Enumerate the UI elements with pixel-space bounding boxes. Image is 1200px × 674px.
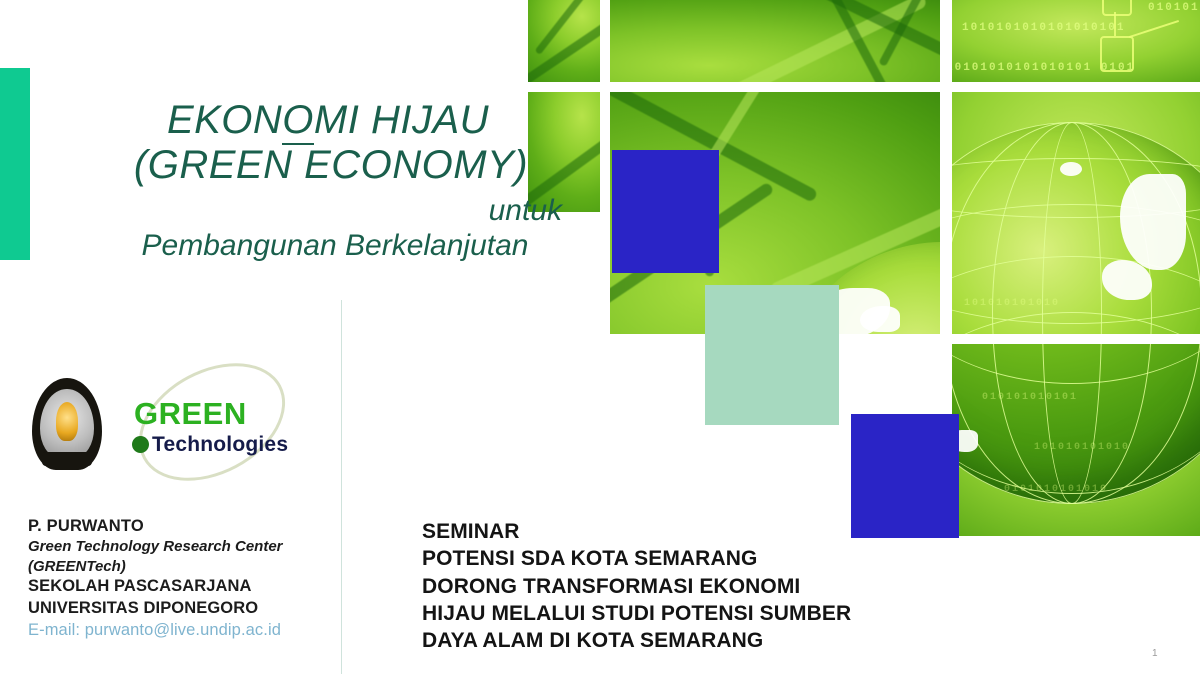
author-research-center-abbrev: (GREENTech) bbox=[28, 557, 328, 577]
author-email[interactable]: E-mail: purwanto@live.undip.ac.id bbox=[28, 620, 328, 641]
greentech-logo: GREEN Technologies bbox=[126, 374, 316, 478]
title-line-3: untuk bbox=[80, 194, 600, 228]
greentech-dot-icon bbox=[132, 436, 149, 453]
binary-text-row0: 0101010101010 bbox=[1148, 2, 1200, 14]
seminar-line-1: SEMINAR bbox=[422, 518, 982, 545]
continent-speck bbox=[1060, 162, 1082, 176]
seminar-line-4: HIJAU MELALUI STUDI POTENSI SUMBER bbox=[422, 600, 982, 627]
collage-gutter-vertical-1 bbox=[600, 0, 610, 344]
undip-seal-icon bbox=[32, 378, 102, 470]
binary-text-bottom-3: 0101010101010 bbox=[1004, 484, 1108, 495]
globe-wireframe-bottom bbox=[952, 344, 1200, 536]
binary-text-globe: 101010101010 bbox=[964, 298, 1060, 309]
collage-panel-helix-topmid bbox=[610, 0, 940, 82]
title-line-2: (GREEN ECONOMY) bbox=[80, 143, 600, 188]
title-line-1-pre: EKON bbox=[167, 98, 282, 142]
seal-base-shape bbox=[42, 452, 92, 467]
molecule-bond-icon bbox=[1114, 12, 1116, 36]
seminar-block: SEMINAR POTENSI SDA KOTA SEMARANG DORONG… bbox=[422, 518, 982, 654]
binary-text-bottom-2: 101010101010 bbox=[1034, 442, 1130, 453]
slide-title-block: EKONOMI HIJAU (GREEN ECONOMY) untuk Pemb… bbox=[80, 98, 600, 263]
title-line-4: Pembangunan Berkelanjutan bbox=[80, 229, 600, 263]
collage-gutter-horizontal-1 bbox=[528, 82, 1200, 92]
molecule-bond-2-icon bbox=[1129, 20, 1179, 38]
vertical-divider bbox=[341, 300, 342, 674]
decor-blue-square-upper bbox=[612, 150, 719, 273]
greentech-word-green: GREEN bbox=[134, 398, 247, 429]
binary-text-row1: 1010101010101010101 bbox=[962, 22, 1125, 34]
logo-row: GREEN Technologies bbox=[30, 374, 320, 479]
author-name: P. PURWANTO bbox=[28, 516, 328, 537]
author-school: SEKOLAH PASCASARJANA bbox=[28, 576, 328, 597]
seminar-line-3: DORONG TRANSFORMASI EKONOMI bbox=[422, 573, 982, 600]
seminar-line-2: POTENSI SDA KOTA SEMARANG bbox=[422, 545, 982, 572]
collage-panel-binary-topright: 1010101010101010101 10101010101010101 01… bbox=[952, 0, 1200, 82]
title-line-1-post: MI HIJAU bbox=[314, 98, 489, 142]
collage-panel-globe-mid: 101010101010 bbox=[952, 92, 1200, 334]
binary-text-bottom-1: 010101010101 bbox=[982, 392, 1078, 403]
seal-emblem-icon bbox=[56, 402, 78, 441]
molecule-hex-icon bbox=[1102, 0, 1132, 16]
author-university: UNIVERSITAS DIPONEGORO bbox=[28, 598, 328, 619]
title-line-1: EKONOMI HIJAU bbox=[80, 98, 600, 143]
decor-mint-square bbox=[705, 285, 839, 425]
title-line-1-marked-letter: O bbox=[282, 98, 314, 145]
collage-gutter-horizontal-2 bbox=[528, 334, 1200, 344]
collage-panel-helix-topleft bbox=[528, 0, 600, 82]
author-research-center: Green Technology Research Center bbox=[28, 537, 328, 557]
molecule-hex-2-icon bbox=[1100, 36, 1134, 72]
presentation-slide: 1010101010101010101 10101010101010101 01… bbox=[0, 0, 1200, 674]
author-block: P. PURWANTO Green Technology Research Ce… bbox=[28, 516, 328, 642]
greentech-word-technologies: Technologies bbox=[152, 434, 288, 455]
decor-teal-bar bbox=[0, 68, 30, 260]
collage-panel-globe-bottom: 010101010101 101010101010 0101010101010 bbox=[952, 344, 1200, 536]
slide-number: 1 bbox=[1152, 648, 1158, 659]
seminar-line-5: DAYA ALAM DI KOTA SEMARANG bbox=[422, 627, 982, 654]
continent-shape-2 bbox=[860, 306, 900, 332]
